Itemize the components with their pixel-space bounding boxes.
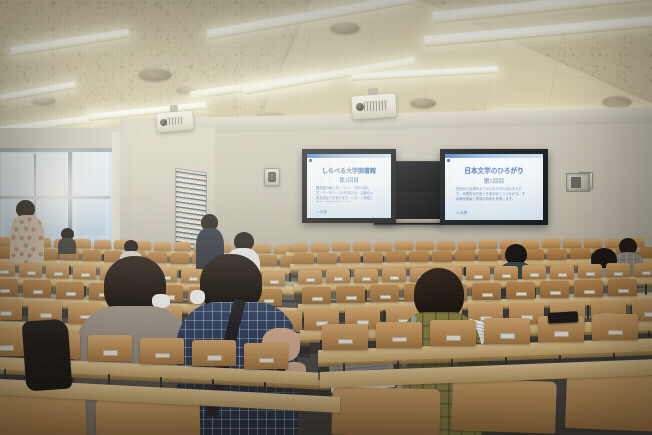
- lecture-seat[interactable]: [374, 242, 392, 251]
- lecture-seat[interactable]: [430, 320, 476, 346]
- lecture-seat[interactable]: [540, 281, 569, 298]
- slide-header-bar: [307, 154, 391, 158]
- lecture-hall-photo: しらべる大学図書館 第1回目 図書館の使い方について、資料の探し方・データベース…: [0, 0, 652, 435]
- seat-number-tag: [608, 330, 624, 335]
- lecture-seat[interactable]: [565, 372, 652, 432]
- seat-number-tag: [500, 333, 516, 338]
- lecture-seat[interactable]: [584, 239, 602, 248]
- slide-header-dot: [447, 159, 450, 162]
- seat-number-tag: [644, 312, 652, 317]
- attendee-standing-floral: [10, 200, 44, 262]
- projection-screen-left[interactable]: しらべる大学図書館 第1回目 図書館の使い方について、資料の探し方・データベース…: [302, 149, 396, 223]
- lecture-seat[interactable]: [74, 239, 91, 248]
- seat-number-tag: [558, 273, 567, 277]
- lecture-seat[interactable]: [437, 241, 455, 250]
- recessed-ceiling-speaker: [32, 96, 56, 105]
- face-mask: [190, 290, 205, 304]
- seat-number-tag: [586, 272, 595, 276]
- seat-number-tag: [334, 277, 343, 281]
- seat-number-tag: [0, 270, 9, 274]
- lecture-seat[interactable]: [455, 250, 475, 261]
- window-pane: [74, 150, 108, 238]
- lecture-seat[interactable]: [409, 251, 429, 262]
- slide-right-subtitle: 第1回目: [445, 176, 543, 185]
- recessed-ceiling-speaker: [138, 68, 172, 81]
- window-head-frame: [0, 148, 112, 152]
- lecture-seat[interactable]: [416, 241, 434, 250]
- seat-number-tag: [362, 277, 371, 281]
- slide-left-subtitle: 第1回目: [307, 176, 391, 184]
- recessed-ceiling-speaker: [410, 98, 436, 108]
- lecture-seat[interactable]: [0, 279, 18, 296]
- lecture-seat[interactable]: [353, 242, 371, 251]
- recessed-ceiling-speaker: [330, 22, 360, 34]
- lecture-seat[interactable]: [140, 338, 184, 364]
- lecture-seat[interactable]: [484, 318, 530, 344]
- seat-number-tag: [584, 290, 595, 294]
- seat-number-tag: [207, 355, 222, 360]
- seat-number-tag: [502, 274, 511, 278]
- seat-number-tag: [54, 272, 63, 276]
- lecture-seat[interactable]: [340, 252, 360, 263]
- seat-number-tag: [482, 293, 493, 297]
- slide-header-bar: [445, 154, 543, 158]
- lecture-seat[interactable]: [332, 242, 350, 251]
- tablet-device[interactable]: [548, 311, 579, 324]
- lecture-seat[interactable]: [478, 250, 498, 261]
- slide-left: しらべる大学図書館 第1回目 図書館の使い方について、資料の探し方・データベース…: [307, 154, 391, 218]
- lecture-seat[interactable]: [479, 240, 497, 249]
- torso: [58, 238, 76, 254]
- window-transom: [0, 196, 110, 199]
- lecture-seat[interactable]: [547, 249, 567, 260]
- projector-vent: [166, 116, 185, 126]
- lecture-seat[interactable]: [363, 252, 383, 263]
- lecture-seat[interactable]: [0, 299, 22, 320]
- lecture-seat[interactable]: [290, 243, 308, 252]
- seat-leg: [365, 290, 367, 301]
- floral-pattern: [10, 215, 44, 263]
- lecture-seat[interactable]: [395, 241, 413, 250]
- slide-right-title: 日本文学のひろがり: [445, 165, 543, 175]
- attendee-left-back: [58, 228, 76, 250]
- lecture-seat[interactable]: [542, 239, 560, 248]
- seat-number-tag: [516, 292, 527, 296]
- seat-number-tag: [446, 335, 462, 340]
- projector-left: [156, 110, 194, 132]
- seat-number-tag: [0, 345, 14, 350]
- recessed-ceiling-speaker: [602, 96, 632, 108]
- lecture-seat[interactable]: [458, 241, 476, 250]
- lecture-seat[interactable]: [608, 279, 637, 296]
- draped-jacket: [22, 318, 73, 391]
- wall-speaker-left: [264, 168, 280, 186]
- seat-number-tag: [380, 295, 391, 299]
- seat-leg: [645, 284, 647, 295]
- seat-number-tag: [554, 331, 570, 336]
- lecture-seat[interactable]: [317, 253, 337, 264]
- lecture-seat[interactable]: [506, 282, 535, 299]
- seat-number-tag: [0, 311, 12, 316]
- seat-number-tag: [306, 278, 315, 282]
- seat-number-tag: [338, 339, 354, 344]
- seat-number-tag: [312, 297, 323, 301]
- lecture-seat[interactable]: [370, 285, 399, 302]
- seat-number-tag: [530, 273, 539, 277]
- lecture-seat[interactable]: [94, 240, 111, 249]
- lecture-seat[interactable]: [432, 251, 452, 262]
- seat-number-tag: [33, 290, 43, 294]
- lecture-seat[interactable]: [244, 343, 288, 369]
- seat-number-tag: [103, 350, 118, 355]
- lecture-seat[interactable]: [322, 324, 368, 350]
- slide-right-footer: ○○大学: [456, 211, 467, 216]
- seat-number-tag: [618, 289, 629, 293]
- projector-right: [351, 93, 396, 119]
- projection-screen-right[interactable]: 日本文学のひろがり 第1回目 古代から近現代までの日本文学の流れをたどり、代表的…: [440, 149, 548, 225]
- seat-number-tag: [259, 358, 274, 363]
- lecture-seat[interactable]: [563, 239, 581, 248]
- lecture-seat[interactable]: [386, 251, 406, 262]
- lecture-seat[interactable]: [376, 322, 422, 348]
- slide-left-title: しらべる大学図書館: [307, 166, 391, 175]
- seat-number-tag: [155, 353, 170, 358]
- seat-number-tag: [614, 272, 623, 276]
- slide-left-footer: ○○大学: [316, 209, 327, 214]
- torso: [10, 215, 44, 263]
- seat-number-tag: [346, 296, 357, 300]
- seat-number-tag: [392, 337, 408, 342]
- lecture-seat[interactable]: [154, 242, 171, 251]
- seat-leg: [69, 266, 71, 275]
- seat-number-tag: [27, 271, 36, 275]
- lecture-seat[interactable]: [451, 378, 557, 434]
- lecture-seat[interactable]: [336, 286, 365, 303]
- slide-header-dot: [309, 159, 312, 162]
- slide-right: 日本文学のひろがり 第1回目 古代から近現代までの日本文学の流れをたどり、代表的…: [445, 154, 543, 220]
- lecture-seat[interactable]: [23, 280, 51, 297]
- lecture-seat[interactable]: [302, 287, 331, 304]
- lecture-seat[interactable]: [174, 242, 191, 251]
- lecture-seat[interactable]: [574, 280, 603, 297]
- projector-vent: [364, 100, 389, 112]
- seat-number-tag: [550, 291, 561, 295]
- seat-number-tag: [642, 271, 651, 275]
- slide-left-body: 図書館の使い方について、資料の探し方・データベースの利用方法・文献の入手方法など…: [316, 186, 374, 202]
- lecture-seat[interactable]: [331, 387, 440, 435]
- lecture-seat[interactable]: [311, 243, 329, 252]
- lecture-seat[interactable]: [88, 335, 132, 361]
- slide-right-body: 古代から近現代までの日本文学の流れをたどり、代表的な作品と作家を取り上げながら、…: [456, 187, 526, 204]
- wall-air-vent: [566, 173, 590, 192]
- seat-number-tag: [40, 313, 52, 318]
- lecture-seat[interactable]: [192, 340, 236, 366]
- seat-number-tag: [0, 289, 10, 293]
- lecture-seat[interactable]: [592, 314, 638, 340]
